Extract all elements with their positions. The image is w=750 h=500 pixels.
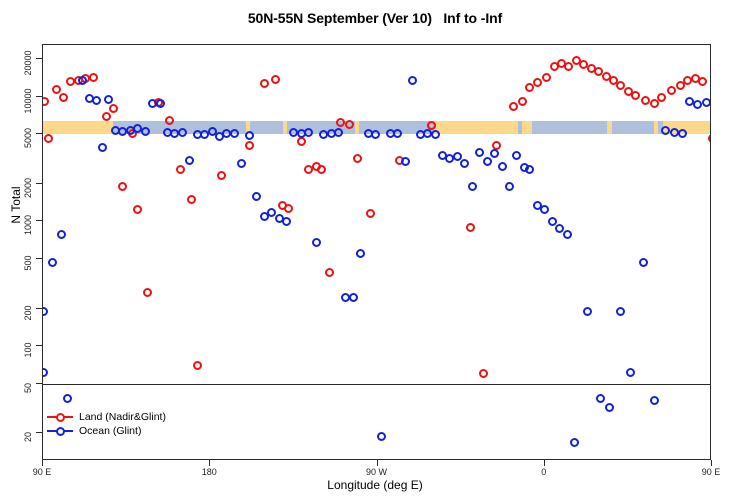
data-point-ocean bbox=[78, 76, 87, 85]
data-point-land bbox=[187, 195, 196, 204]
y-axis-tick-label: 1000 bbox=[28, 225, 38, 245]
data-point-land bbox=[325, 268, 334, 277]
data-point-ocean bbox=[702, 98, 711, 107]
surface-band-segment-land bbox=[522, 121, 532, 134]
data-point-ocean bbox=[237, 159, 246, 168]
data-point-ocean bbox=[605, 403, 614, 412]
data-point-ocean bbox=[626, 368, 635, 377]
data-point-ocean bbox=[252, 192, 261, 201]
y-axis-tick-label: 20000 bbox=[28, 63, 38, 88]
data-point-ocean bbox=[98, 143, 107, 152]
data-point-ocean bbox=[48, 258, 57, 267]
data-point-land bbox=[176, 165, 185, 174]
data-point-ocean bbox=[401, 157, 410, 166]
data-point-ocean bbox=[570, 438, 579, 447]
data-point-land bbox=[698, 77, 707, 86]
x-axis-tick-label: 180 bbox=[202, 467, 217, 477]
data-point-ocean bbox=[304, 128, 313, 137]
data-point-land bbox=[533, 78, 542, 87]
y-axis-tick-label: 2000 bbox=[28, 188, 38, 208]
data-point-ocean bbox=[104, 95, 113, 104]
data-point-ocean bbox=[349, 293, 358, 302]
data-point-land bbox=[44, 134, 53, 143]
data-point-ocean bbox=[540, 205, 549, 214]
data-point-ocean bbox=[377, 432, 386, 441]
data-point-land bbox=[564, 62, 573, 71]
x-axis-tick bbox=[711, 460, 712, 466]
data-point-land bbox=[271, 75, 280, 84]
surface-band-segment-land bbox=[43, 121, 113, 134]
y-axis-tick-label: 10000 bbox=[28, 101, 38, 126]
data-point-land bbox=[59, 93, 68, 102]
data-point-ocean bbox=[650, 396, 659, 405]
x-axis-tick-label: 90 E bbox=[702, 467, 721, 477]
x-axis-title: Longitude (deg E) bbox=[0, 478, 750, 492]
data-point-land bbox=[52, 85, 61, 94]
data-point-land bbox=[109, 104, 118, 113]
data-point-ocean bbox=[356, 249, 365, 258]
surface-band-segment-ocean bbox=[532, 121, 607, 134]
data-point-land bbox=[217, 171, 226, 180]
data-point-ocean bbox=[583, 307, 592, 316]
data-point-ocean bbox=[393, 129, 402, 138]
data-point-ocean bbox=[525, 165, 534, 174]
legend-label-ocean: Ocean (Glint) bbox=[79, 424, 141, 438]
data-point-ocean bbox=[92, 96, 101, 105]
data-point-land bbox=[143, 288, 152, 297]
legend-marker-land-icon bbox=[47, 411, 73, 423]
y-axis-tick-label: 20 bbox=[28, 437, 38, 447]
y-axis-tick-label: 100 bbox=[28, 350, 38, 365]
data-point-land bbox=[641, 96, 650, 105]
x-axis-tick-label: 90 W bbox=[366, 467, 387, 477]
data-point-ocean bbox=[460, 159, 469, 168]
data-point-ocean bbox=[468, 182, 477, 191]
data-point-land bbox=[89, 73, 98, 82]
data-point-land bbox=[284, 204, 293, 213]
data-point-ocean bbox=[639, 258, 648, 267]
surface-band-segment-ocean bbox=[612, 121, 655, 134]
data-point-land bbox=[542, 73, 551, 82]
data-point-ocean bbox=[505, 182, 514, 191]
data-point-land bbox=[165, 116, 174, 125]
data-point-ocean bbox=[616, 307, 625, 316]
data-point-land bbox=[518, 97, 527, 106]
chart-figure: 50N-55N September (Ver 10) Inf to -Inf 2… bbox=[0, 0, 750, 500]
data-point-land bbox=[317, 165, 326, 174]
data-point-land bbox=[118, 182, 127, 191]
data-point-ocean bbox=[282, 217, 291, 226]
surface-band-segment-ocean bbox=[250, 121, 283, 134]
data-point-land bbox=[466, 223, 475, 232]
legend-item-ocean: Ocean (Glint) bbox=[47, 424, 166, 438]
chart-legend: Land (Nadir&Glint) Ocean (Glint) bbox=[47, 410, 166, 438]
data-point-land bbox=[708, 134, 712, 143]
x-axis-tick-label: 0 bbox=[541, 467, 546, 477]
x-axis-tick bbox=[544, 460, 545, 466]
data-point-land bbox=[133, 205, 142, 214]
data-point-ocean bbox=[334, 128, 343, 137]
data-point-ocean bbox=[245, 131, 254, 140]
data-point-land bbox=[657, 93, 666, 102]
data-point-ocean bbox=[512, 151, 521, 160]
data-point-land bbox=[353, 154, 362, 163]
data-point-ocean bbox=[42, 307, 48, 316]
data-point-ocean bbox=[475, 148, 484, 157]
data-point-ocean bbox=[141, 127, 150, 136]
data-point-land bbox=[366, 209, 375, 218]
data-point-ocean bbox=[312, 238, 321, 247]
y-axis-tick-label: 50 bbox=[28, 388, 38, 398]
legend-item-land: Land (Nadir&Glint) bbox=[47, 410, 166, 424]
legend-marker-ocean-icon bbox=[47, 425, 73, 437]
data-point-land bbox=[336, 118, 345, 127]
y-axis-tick-label: 500 bbox=[28, 263, 38, 278]
data-point-ocean bbox=[498, 162, 507, 171]
x-axis-tick bbox=[42, 460, 43, 466]
data-point-ocean bbox=[178, 128, 187, 137]
data-point-land bbox=[631, 91, 640, 100]
data-point-land bbox=[102, 112, 111, 121]
data-point-ocean bbox=[156, 99, 165, 108]
data-point-ocean bbox=[678, 129, 687, 138]
data-point-land bbox=[42, 97, 49, 106]
data-point-ocean bbox=[693, 100, 702, 109]
x-axis-tick bbox=[377, 460, 378, 466]
y-axis-tick-label: 200 bbox=[28, 313, 38, 328]
data-point-ocean bbox=[230, 129, 239, 138]
data-point-ocean bbox=[563, 230, 572, 239]
chart-title: 50N-55N September (Ver 10) Inf to -Inf bbox=[0, 10, 750, 26]
data-point-land bbox=[509, 102, 518, 111]
data-point-ocean bbox=[661, 126, 670, 135]
data-point-land bbox=[193, 361, 202, 370]
surface-band-segment-land bbox=[434, 121, 518, 134]
data-point-ocean bbox=[490, 149, 499, 158]
y-axis-tick-label: 5000 bbox=[28, 138, 38, 158]
data-point-land bbox=[667, 86, 676, 95]
legend-label-land: Land (Nadir&Glint) bbox=[79, 410, 166, 424]
data-point-ocean bbox=[371, 130, 380, 139]
data-point-ocean bbox=[57, 230, 66, 239]
data-point-land bbox=[479, 369, 488, 378]
y-axis-title: N Total bbox=[9, 145, 23, 265]
data-point-land bbox=[245, 141, 254, 150]
data-point-ocean bbox=[42, 368, 48, 377]
data-point-ocean bbox=[596, 394, 605, 403]
data-point-land bbox=[297, 137, 306, 146]
data-point-ocean bbox=[185, 156, 194, 165]
data-point-ocean bbox=[408, 76, 417, 85]
plot-area bbox=[42, 44, 711, 460]
data-point-land bbox=[345, 120, 354, 129]
data-point-ocean bbox=[431, 130, 440, 139]
data-point-ocean bbox=[63, 394, 72, 403]
x-axis-tick bbox=[209, 460, 210, 466]
threshold-line bbox=[43, 384, 710, 385]
data-point-ocean bbox=[483, 157, 492, 166]
data-point-land bbox=[260, 79, 269, 88]
x-axis-tick-label: 90 E bbox=[33, 467, 52, 477]
